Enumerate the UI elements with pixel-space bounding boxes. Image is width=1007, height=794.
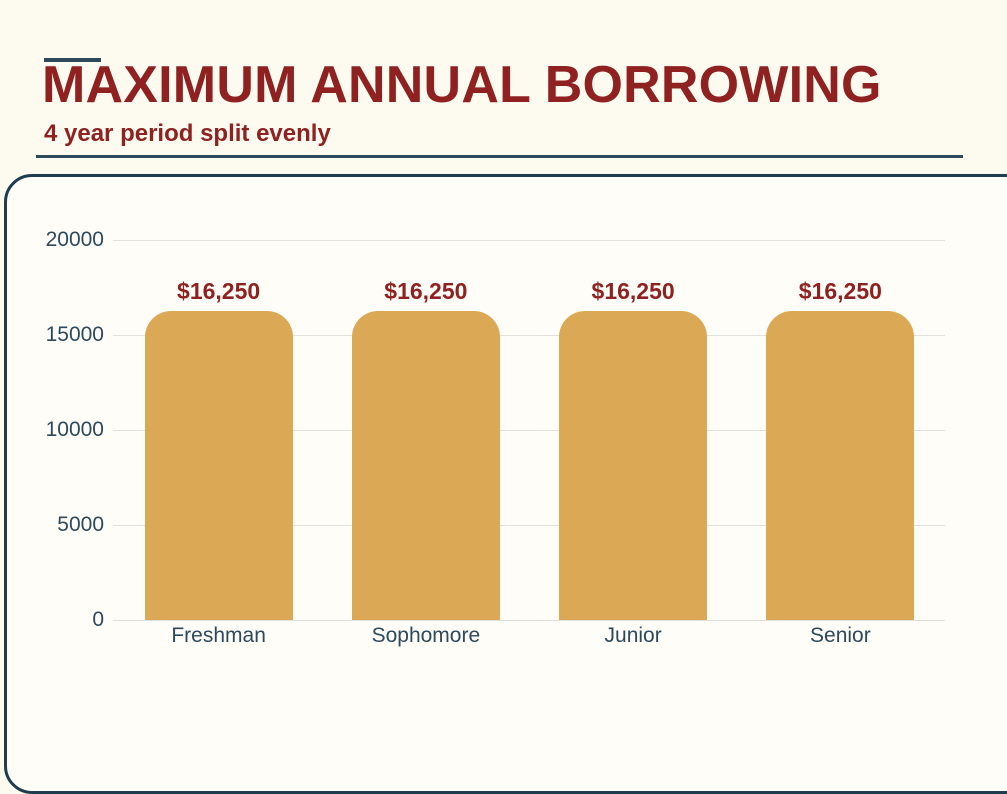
x-axis-category-label: Senior	[746, 624, 934, 648]
bar[interactable]	[559, 311, 707, 620]
bar[interactable]	[766, 311, 914, 620]
bar[interactable]	[145, 311, 293, 620]
bars-layer: $16,250Freshman$16,250Sophomore$16,250Ju…	[0, 174, 1007, 740]
bar-value-label: $16,250	[559, 278, 707, 305]
bar[interactable]	[352, 311, 500, 620]
bar-group[interactable]: $16,250Senior	[766, 174, 914, 740]
page-title: MAXIMUM ANNUAL BORROWING	[42, 56, 882, 116]
bar-chart-plot: 05000100001500020000 $16,250Freshman$16,…	[0, 174, 1007, 740]
page-subtitle: 4 year period split evenly	[44, 120, 331, 148]
bar-group[interactable]: $16,250Freshman	[145, 174, 293, 740]
x-axis-category-label: Junior	[539, 624, 727, 648]
bar-value-label: $16,250	[352, 278, 500, 305]
header-divider	[36, 155, 963, 158]
bar-value-label: $16,250	[145, 278, 293, 305]
chart-header: MAXIMUM ANNUAL BORROWING 4 year period s…	[0, 0, 1007, 165]
bar-group[interactable]: $16,250Junior	[559, 174, 707, 740]
x-axis-category-label: Sophomore	[332, 624, 520, 648]
bar-group[interactable]: $16,250Sophomore	[352, 174, 500, 740]
bar-value-label: $16,250	[766, 278, 914, 305]
x-axis-category-label: Freshman	[125, 624, 313, 648]
